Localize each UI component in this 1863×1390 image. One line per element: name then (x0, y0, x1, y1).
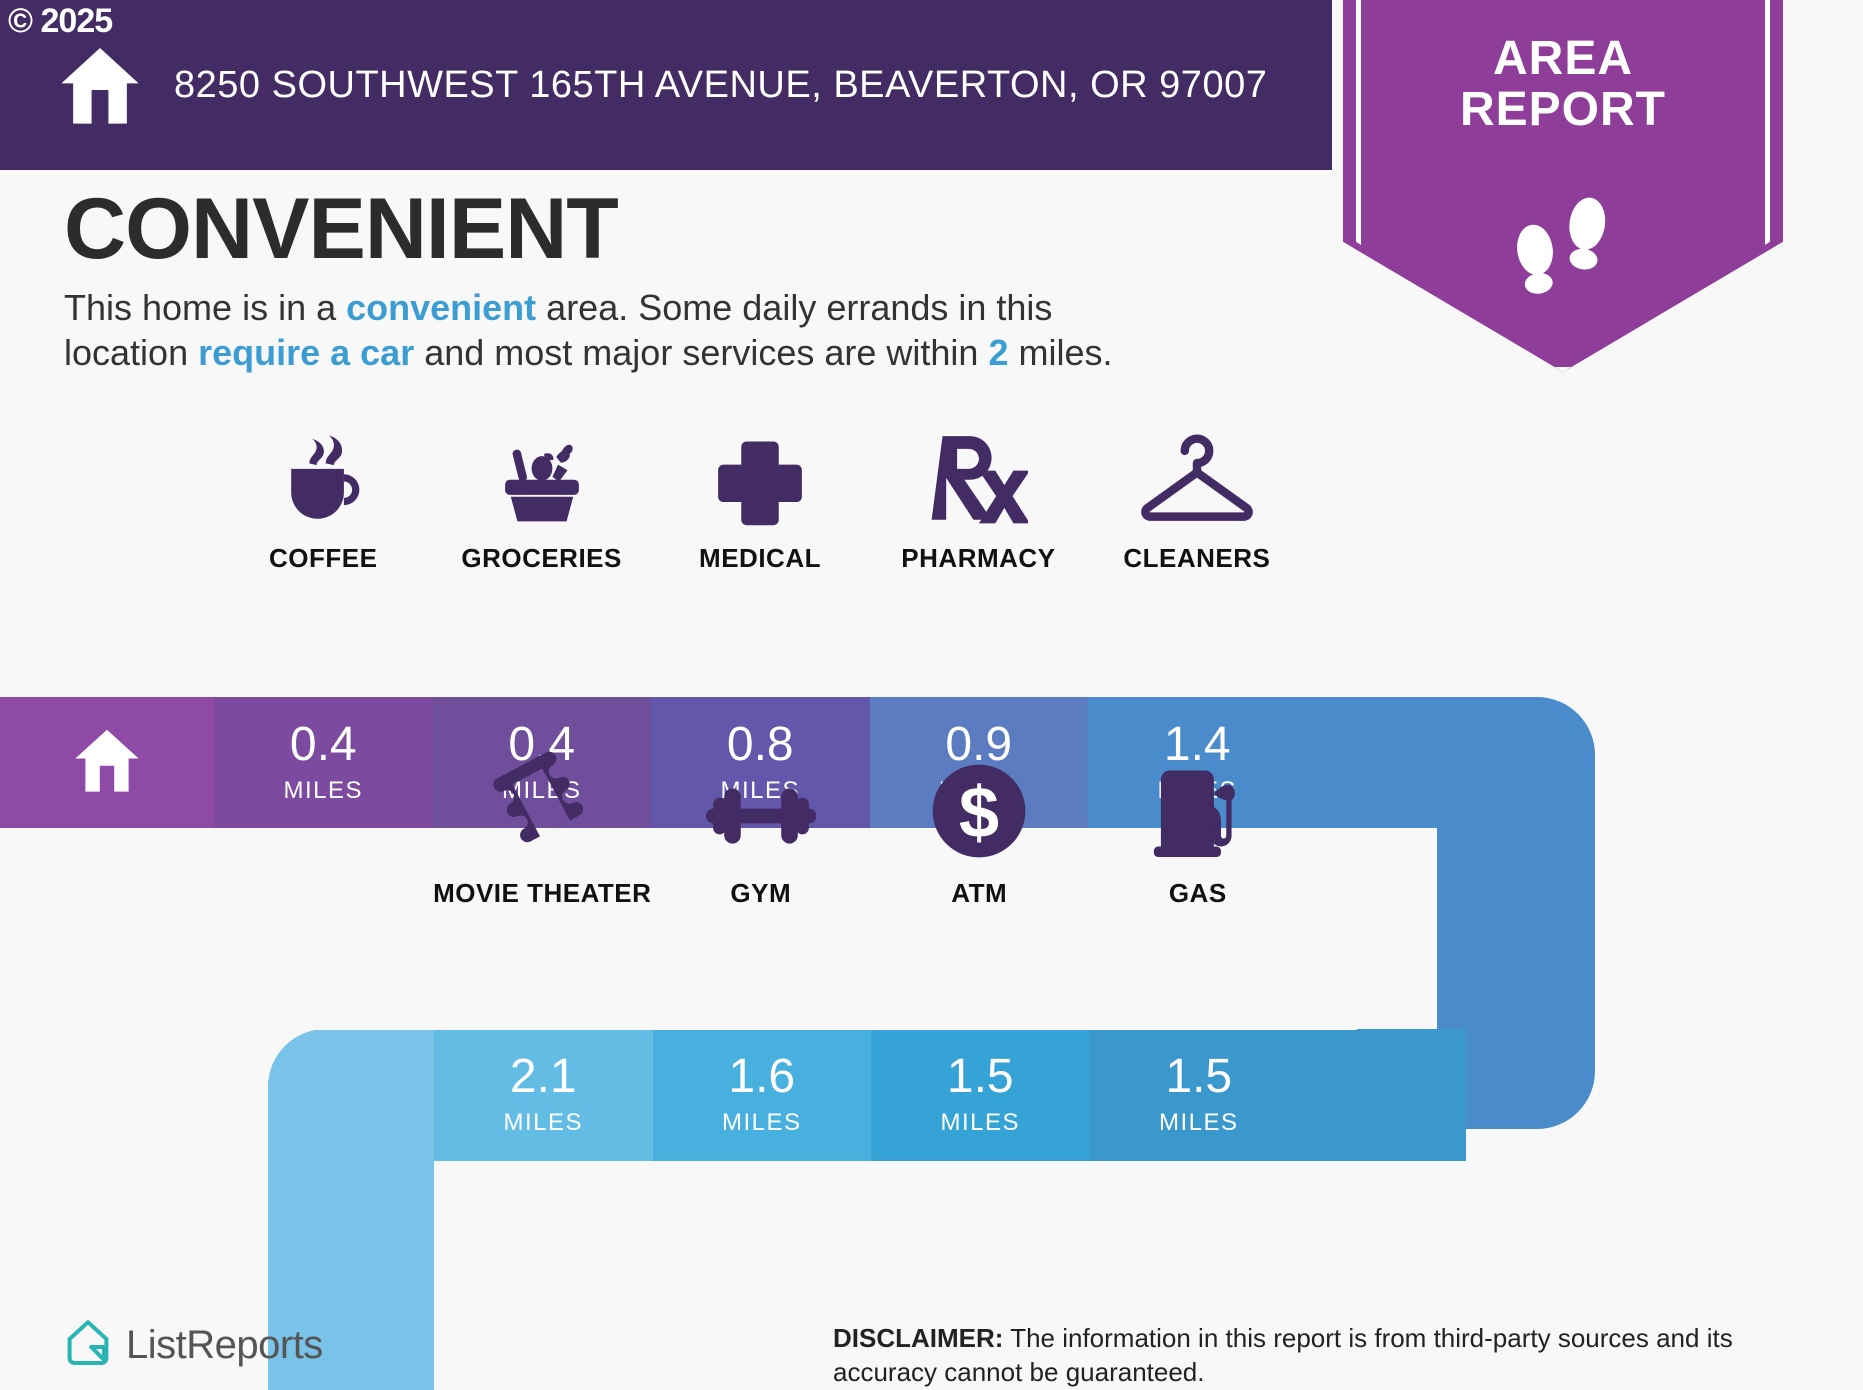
intro-text-3: and most major services are within (414, 332, 988, 373)
disclaimer: DISCLAIMER: The information in this repo… (833, 1322, 1833, 1390)
copyright-label: © 2025 (8, 2, 112, 41)
intro-highlight-1: convenient (346, 287, 536, 328)
amenity-label: GROCERIES (461, 543, 622, 574)
svg-text:$: $ (959, 773, 999, 853)
distance-unit: MILES (940, 1109, 1020, 1137)
disclaimer-label: DISCLAIMER: (833, 1323, 1003, 1353)
intro-text-1: This home is in a (64, 287, 346, 328)
amenity-label: GAS (1169, 878, 1227, 909)
ribbon-tail-cell-2 (1308, 1029, 1466, 1161)
distance-cell: 0.4 MILES (214, 697, 433, 828)
header-bar: © 2025 8250 SOUTHWEST 165TH AVENUE, BEAV… (0, 0, 1332, 170)
home-icon (71, 724, 143, 801)
prescription-rx-icon (928, 415, 1028, 527)
medical-cross-icon (711, 415, 809, 527)
intro-highlight-2: require a car (198, 332, 414, 373)
intro-text-4: miles. (1008, 332, 1112, 373)
distance-cell: 1.5 MILES (1090, 1029, 1309, 1161)
area-report-badge: AREA REPORT (1343, 0, 1783, 372)
distance-unit: MILES (722, 1109, 802, 1137)
listreports-logo[interactable]: ListReports (64, 1318, 323, 1373)
dumbbell-icon (696, 750, 826, 862)
intro-highlight-3: 2 (988, 332, 1008, 373)
listreports-house-icon (64, 1318, 112, 1373)
home-marker-cell (0, 697, 214, 828)
page-title: CONVENIENT (64, 180, 618, 279)
distance-unit: MILES (503, 1109, 583, 1137)
gas-pump-icon (1145, 750, 1251, 862)
distance-unit: MILES (283, 777, 363, 805)
amenity-gas: GAS (1089, 750, 1308, 909)
ribbon-tail-cell (1307, 697, 1465, 828)
amenity-label: ATM (951, 878, 1007, 909)
grocery-basket-icon (490, 415, 594, 527)
amenity-cleaners: CLEANERS (1088, 415, 1306, 574)
amenity-icon-row-1: COFFEE GROCERIES (214, 415, 1306, 574)
amenity-medical: MEDICAL (651, 415, 869, 574)
ribbon-notch-lower (434, 1161, 1595, 1281)
amenity-label: MEDICAL (699, 543, 821, 574)
movie-ticket-icon (493, 750, 591, 862)
distance-cell: 1.6 MILES (653, 1029, 872, 1161)
intro-paragraph: This home is in a convenient area. Some … (64, 285, 1164, 375)
amenity-movie-theater: MOVIE THEATER (433, 750, 652, 909)
distance-bar-row-2: 2.1 MILES 1.6 MILES 1.5 MILES 1.5 MILES (268, 1029, 1595, 1161)
home-icon (58, 42, 142, 128)
distance-value: 2.1 (510, 1053, 577, 1101)
clothes-hanger-icon (1136, 415, 1258, 527)
amenity-label: COFFEE (269, 543, 377, 574)
property-address: 8250 SOUTHWEST 165TH AVENUE, BEAVERTON, … (174, 64, 1267, 107)
amenity-coffee: COFFEE (214, 415, 432, 574)
coffee-cup-icon (273, 415, 373, 527)
footprints-icon (1507, 186, 1619, 313)
amenity-label: PHARMACY (901, 543, 1055, 574)
badge-title: AREA REPORT (1343, 34, 1783, 136)
distance-value: 0.4 (290, 721, 357, 769)
listreports-wordmark: ListReports (126, 1323, 323, 1368)
amenity-icon-row-2: MOVIE THEATER GYM (433, 750, 1307, 909)
amenity-groceries: GROCERIES (432, 415, 650, 574)
ribbon-lead-cell (268, 1029, 434, 1161)
amenity-atm: $ ATM (870, 750, 1089, 909)
amenity-label: MOVIE THEATER (433, 878, 651, 909)
distance-cell: 1.5 MILES (871, 1029, 1090, 1161)
distance-value: 1.6 (728, 1053, 795, 1101)
distance-value: 1.5 (1165, 1053, 1232, 1101)
amenity-pharmacy: PHARMACY (869, 415, 1087, 574)
distance-cell: 2.1 MILES (434, 1029, 653, 1161)
badge-title-line1: AREA (1343, 34, 1783, 85)
amenity-label: CLEANERS (1123, 543, 1270, 574)
amenity-label: GYM (730, 878, 791, 909)
dollar-coin-icon: $ (928, 750, 1030, 862)
distance-unit: MILES (1159, 1109, 1239, 1137)
badge-title-line2: REPORT (1343, 85, 1783, 136)
amenity-gym: GYM (652, 750, 871, 909)
distance-value: 1.5 (947, 1053, 1014, 1101)
area-report-page: © 2025 8250 SOUTHWEST 165TH AVENUE, BEAV… (0, 0, 1863, 1390)
